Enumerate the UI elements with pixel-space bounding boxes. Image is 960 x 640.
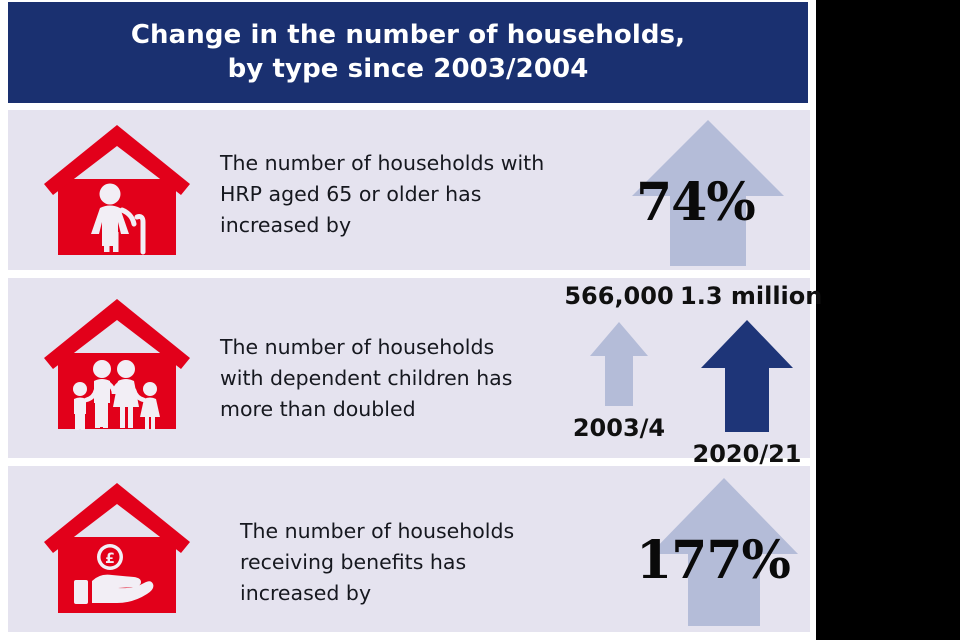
stat-value-percentage: 74% — [636, 172, 755, 233]
comparison-column-2003-4: 566,000 2003/4 — [564, 282, 674, 442]
comparison-period-old: 2003/4 — [564, 414, 674, 442]
up-arrow-icon-large — [699, 318, 795, 434]
comparison-period-new: 2020/21 — [680, 440, 814, 468]
header-band: Change in the number of households, by t… — [8, 2, 808, 103]
house-with-hand-holding-pound-coin-icon: £ — [42, 480, 192, 616]
svg-text:£: £ — [105, 551, 115, 567]
stat-row-dependent-children: The number of households with dependent … — [8, 278, 810, 458]
house-with-family-icon — [42, 296, 192, 432]
comparison-value-old: 566,000 — [564, 282, 674, 310]
stat-row-receiving-benefits: £ The number of households receiving ben… — [8, 466, 810, 632]
infographic-root: Change in the number of households, by t… — [0, 0, 816, 640]
up-arrow-icon-small — [588, 320, 650, 408]
page-title: Change in the number of households, by t… — [131, 19, 685, 86]
up-arrow-74-percent: 74% — [630, 118, 810, 268]
stat-row-description: The number of households receiving benef… — [240, 516, 590, 609]
stat-row-hrp-65-plus: The number of households with HRP aged 6… — [8, 110, 810, 270]
house-with-elderly-person-icon — [42, 122, 192, 258]
comparison-arrows-group: 566,000 2003/4 1.3 million — [556, 282, 818, 454]
stat-value-percentage: 177% — [636, 530, 790, 591]
stat-row-description: The number of households with HRP aged 6… — [220, 148, 610, 241]
up-arrow-177-percent: 177% — [648, 476, 828, 628]
comparison-value-new: 1.3 million — [680, 282, 814, 310]
comparison-column-2020-21: 1.3 million 2020/21 — [680, 282, 814, 468]
stat-row-description: The number of households with dependent … — [220, 332, 572, 425]
